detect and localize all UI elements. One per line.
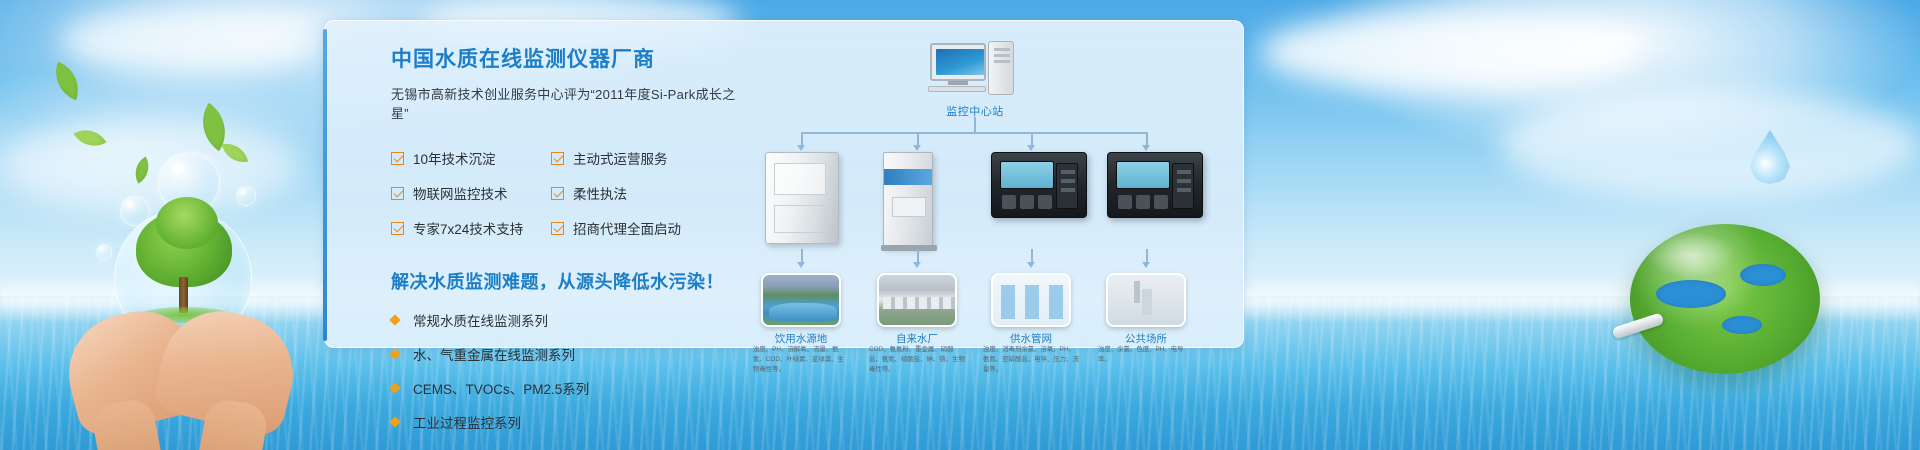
arrow-down-icon	[1027, 145, 1035, 151]
feature-label: 招商代理全面启动	[573, 218, 681, 238]
analyzer-side-panel	[1056, 163, 1078, 209]
earth-globe-icon	[1630, 224, 1820, 374]
checkbox-checked-icon	[391, 222, 404, 235]
cloud-decor	[1260, 10, 1640, 94]
cloud-decor	[60, 6, 320, 76]
water-plant-photo	[877, 273, 957, 327]
checkbox-checked-icon	[391, 152, 404, 165]
connector-line	[1146, 249, 1148, 263]
globe-highlight	[1646, 232, 1736, 278]
product-line-item: CEMS、TVOCs、PM2.5系列	[391, 378, 751, 398]
connector-line	[917, 132, 919, 146]
section-heading: 解决水质监测难题，从源头降低水污染！	[391, 268, 751, 294]
arrow-down-icon	[913, 145, 921, 151]
monitor-stand	[948, 81, 968, 85]
scene-description: 浊度、消毒剂余氯、溶氧、PH、氨氮、亚硝酸盐、电导、压力、流量等。	[983, 345, 1079, 375]
black-panel-controller-icon	[1107, 152, 1203, 218]
scene-caption: 公共场所	[1091, 331, 1201, 346]
product-line-item: 工业过程监控系列	[391, 412, 751, 432]
product-line-label: 水、气重金属在线监测系列	[413, 344, 575, 364]
arrow-down-icon	[1142, 145, 1150, 151]
desktop-computer-icon	[930, 43, 1020, 95]
feature-label: 专家7x24技术支持	[413, 218, 523, 238]
product-line-item: 水、气重金属在线监测系列	[391, 344, 751, 364]
device-node	[1107, 152, 1203, 218]
feature-label: 主动式运营服务	[573, 148, 668, 168]
product-line-label: 工业过程监控系列	[413, 412, 521, 432]
scene-caption: 自来水厂	[862, 331, 972, 346]
diamond-bullet-icon	[389, 349, 400, 360]
river-source-photo	[761, 273, 841, 327]
diamond-bullet-icon	[389, 417, 400, 428]
feature-item: 专家7x24技术支持	[391, 218, 551, 238]
cabinet-band	[884, 169, 932, 185]
arrow-down-icon	[797, 145, 805, 151]
device-node	[991, 152, 1087, 218]
product-line-label: CEMS、TVOCs、PM2.5系列	[413, 378, 589, 398]
arrow-down-icon	[913, 262, 921, 268]
controller-side-panel	[1172, 163, 1194, 209]
banner-stage: 中国水质在线监测仪器厂商 无锡市高新技术创业服务中心评为“2011年度Si-Pa…	[0, 0, 1920, 450]
feature-label: 10年技术沉淀	[413, 148, 496, 168]
scene-description: COD、氨氮粉、重金属、硝酸盐、氨氮、硝酸盐、砷、铬、生物毒性等。	[869, 345, 965, 375]
feature-label: 柔性执法	[573, 183, 627, 203]
diamond-bullet-icon	[389, 315, 400, 326]
feature-item: 主动式运营服务	[551, 148, 711, 168]
feature-item: 10年技术沉淀	[391, 148, 551, 168]
analyzer-keypad	[1002, 195, 1052, 209]
monitor-screen	[936, 49, 984, 75]
controller-lcd-screen	[1116, 161, 1170, 189]
monitor-shape	[930, 43, 986, 81]
diamond-bullet-icon	[389, 383, 400, 394]
checkbox-checked-icon	[551, 222, 564, 235]
pipe-network-diagram-photo	[991, 273, 1071, 327]
lake-shape	[1656, 280, 1726, 308]
cloud-decor	[1500, 90, 1920, 200]
scene-caption: 饮用水源地	[746, 331, 856, 346]
connector-line	[801, 132, 803, 146]
checkbox-checked-icon	[551, 152, 564, 165]
hands-holding-tree-illustration	[70, 185, 300, 450]
black-panel-analyzer-icon	[991, 152, 1087, 218]
checkbox-checked-icon	[551, 187, 564, 200]
left-text-column: 中国水质在线监测仪器厂商 无锡市高新技术创业服务中心评为“2011年度Si-Pa…	[391, 47, 751, 446]
connector-line	[1031, 132, 1033, 146]
white-cabinet-analyzer-icon	[765, 152, 839, 244]
product-line-item: 常规水质在线监测系列	[391, 310, 751, 330]
product-line-label: 常规水质在线监测系列	[413, 310, 548, 330]
tree-icon	[156, 197, 218, 249]
scene-description: 浊度、PH、溶解氧、流量、氨氮、COD、叶绿素、蓝绿藻、生物毒性等。	[753, 345, 849, 375]
page-subtitle: 无锡市高新技术创业服务中心评为“2011年度Si-Park成长之星”	[391, 84, 751, 122]
device-node	[883, 152, 933, 248]
feature-item: 物联网监控技术	[391, 183, 551, 203]
scene-description: 浊度、余氯、色度、PH、电导率。	[1098, 345, 1194, 365]
arrow-down-icon	[797, 262, 805, 268]
connector-line	[917, 249, 919, 263]
connector-line	[1031, 249, 1033, 263]
content-panel: 中国水质在线监测仪器厂商 无锡市高新技术创业服务中心评为“2011年度Si-Pa…	[324, 20, 1244, 348]
green-earth-illustration	[1600, 210, 1850, 410]
monitoring-topology-diagram: 监控中心站	[755, 37, 1225, 337]
faucet-handwash-photo	[1106, 273, 1186, 327]
feature-item: 招商代理全面启动	[551, 218, 711, 238]
arrow-down-icon	[1142, 262, 1150, 268]
feature-checklist: 10年技术沉淀 主动式运营服务 物联网监控技术 柔性执法 专家7x24技术支持	[391, 148, 751, 238]
controller-keypad	[1118, 195, 1168, 209]
lake-shape	[1740, 264, 1786, 286]
arrow-down-icon	[1027, 262, 1035, 268]
connector-line	[974, 117, 976, 133]
connector-line	[801, 132, 1147, 134]
pc-tower-shape	[988, 41, 1014, 95]
scene-caption: 供水管网	[976, 331, 1086, 346]
analyzer-lcd-screen	[1000, 161, 1054, 189]
product-line-list: 常规水质在线监测系列 水、气重金属在线监测系列 CEMS、TVOCs、PM2.5…	[391, 310, 751, 432]
checkbox-checked-icon	[391, 187, 404, 200]
cabinet-base	[881, 245, 937, 251]
feature-label: 物联网监控技术	[413, 183, 508, 203]
cabinet-control-panel	[892, 197, 926, 217]
page-title: 中国水质在线监测仪器厂商	[391, 47, 751, 72]
connector-line	[1146, 132, 1148, 146]
keyboard-shape	[928, 86, 986, 92]
device-node	[765, 152, 839, 244]
connector-line	[801, 249, 803, 263]
blue-band-cabinet-icon	[883, 152, 933, 248]
feature-item: 柔性执法	[551, 183, 711, 203]
lake-shape	[1722, 316, 1762, 334]
